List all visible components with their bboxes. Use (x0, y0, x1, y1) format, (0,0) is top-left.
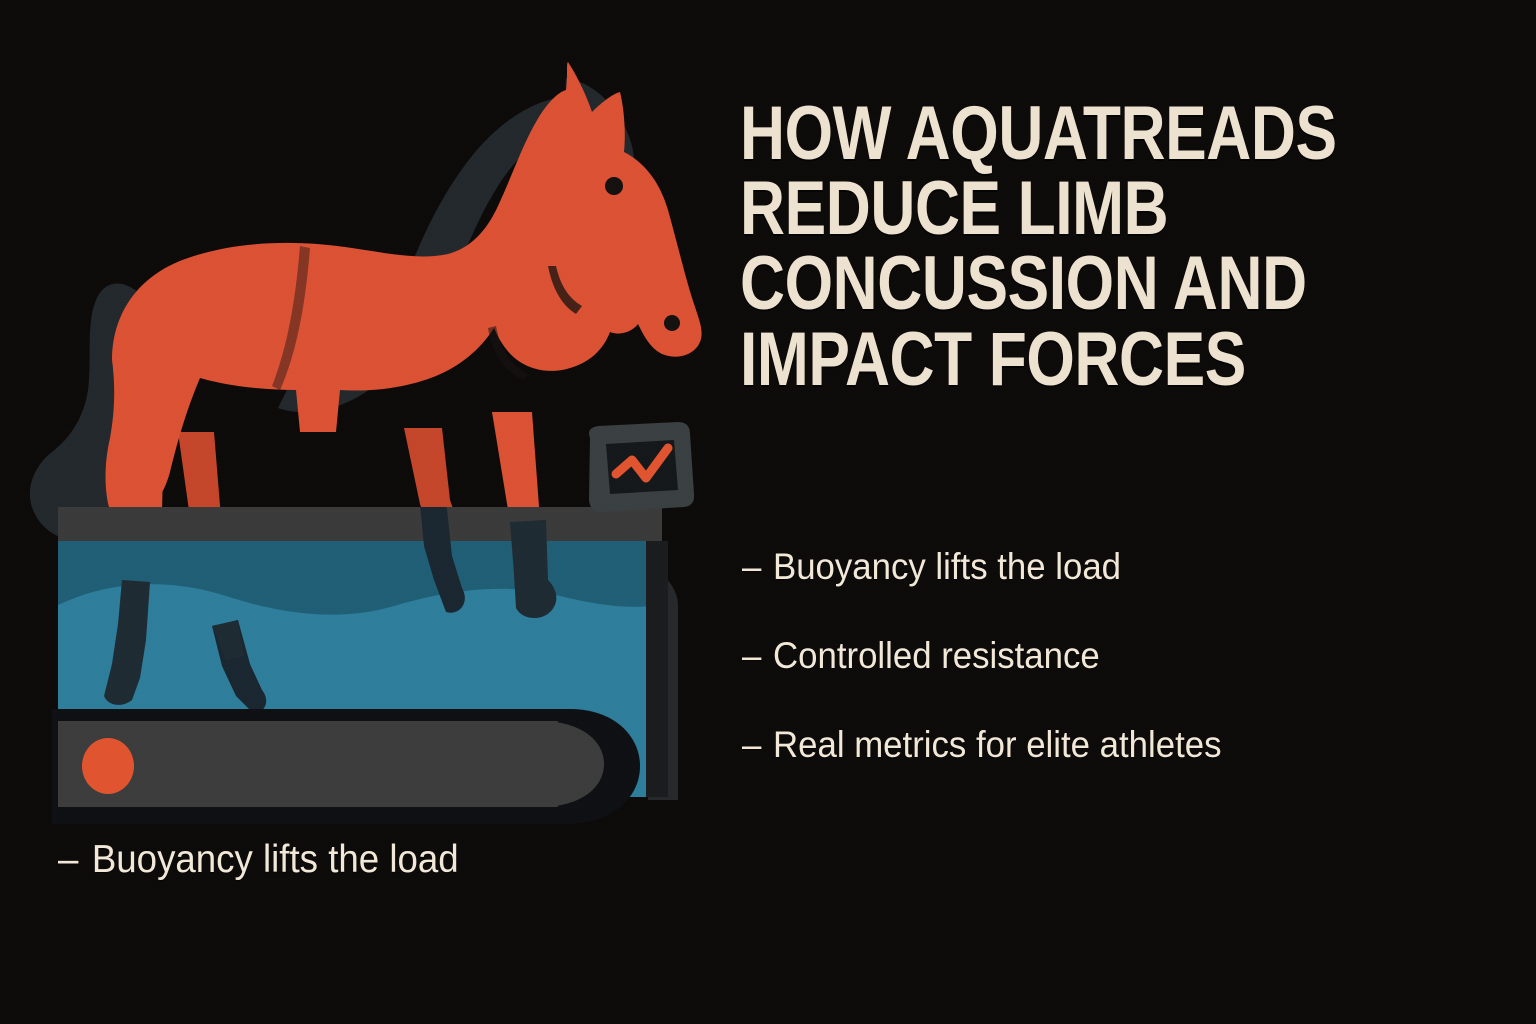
horse-nostril (664, 315, 680, 331)
bullet-dash-icon: – (58, 838, 92, 882)
illustration-caption: – Buoyancy lifts the load (58, 838, 459, 882)
headline-block: HOW AQUATREADS REDUCE LIMB CONCUSSION AN… (740, 96, 1500, 397)
treadmill-belt (52, 709, 640, 824)
list-item-label: Real metrics for elite athletes (773, 726, 1221, 763)
bullet-dash-icon: – (742, 637, 773, 674)
treadmill-power-button (82, 738, 134, 794)
caption-label: Buoyancy lifts the load (92, 838, 459, 882)
list-item-label: Buoyancy lifts the load (773, 548, 1121, 585)
tank-right-wall (646, 541, 668, 797)
list-item-label: Controlled resistance (773, 637, 1100, 674)
bullet-dash-icon: – (742, 726, 773, 763)
infographic-canvas: HOW AQUATREADS REDUCE LIMB CONCUSSION AN… (0, 0, 1536, 1024)
bullet-dash-icon: – (742, 548, 773, 585)
metrics-monitor[interactable] (589, 422, 694, 512)
horse-eye (605, 177, 623, 195)
aquatread-illustration (0, 60, 720, 840)
benefits-list: – Buoyancy lifts the load – Controlled r… (742, 548, 1532, 815)
page-title: HOW AQUATREADS REDUCE LIMB CONCUSSION AN… (740, 96, 1499, 397)
list-item: – Buoyancy lifts the load (742, 548, 1485, 585)
list-item: – Real metrics for elite athletes (742, 726, 1485, 763)
list-item: – Controlled resistance (742, 637, 1485, 674)
tank-rim (58, 507, 662, 541)
